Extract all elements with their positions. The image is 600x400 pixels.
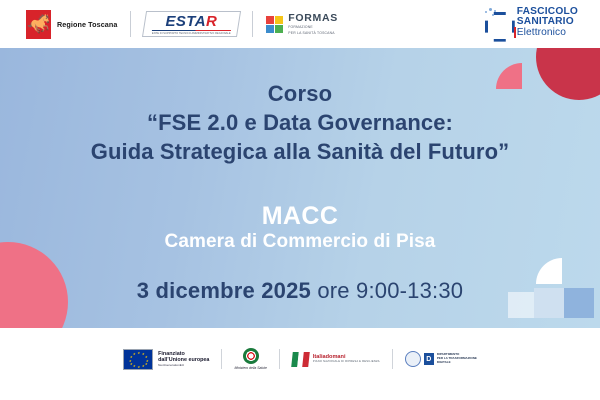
italiadomani-sub: PIANO NAZIONALE DI RIPRESA E RESILIENZA xyxy=(313,361,380,364)
venue-full-name: Camera di Commercio di Pisa xyxy=(0,231,600,254)
logo-divider-1 xyxy=(130,11,131,37)
event-time: ore 9:00-13:30 xyxy=(317,278,463,303)
eu-funding-logo: ★ ★ ★ ★ ★ ★ ★ ★ ★ ★ ★ ★ Finanziato dall'… xyxy=(123,349,209,370)
ministero-label: Ministero della Salute xyxy=(234,366,266,370)
formas-title: FORMAS xyxy=(288,13,338,24)
footer-bar: ★ ★ ★ ★ ★ ★ ★ ★ ★ ★ ★ ★ Finanziato dall'… xyxy=(0,328,600,400)
dipartimento-trasformazione-digitale-logo: D DIPARTIMENTO PER LA TRASFORMAZIONE DIG… xyxy=(405,351,477,367)
event-datetime: 3 dicembre 2025 ore 9:00-13:30 xyxy=(0,278,600,304)
regione-toscana-label: Regione Toscana xyxy=(57,20,117,29)
formas-squares-icon xyxy=(266,16,283,33)
republic-emblem-icon xyxy=(243,348,259,364)
estar-rule xyxy=(152,30,231,31)
logo-divider-2 xyxy=(252,11,253,37)
eu-line3: NextGenerationEU xyxy=(158,364,209,367)
formas-sub1: FORMAZIONE xyxy=(288,25,338,29)
pegasus-icon: 🐎 xyxy=(26,10,51,39)
venue-short-name: MACC xyxy=(0,202,600,231)
dipartimento-emblem-icon xyxy=(405,351,421,367)
regione-toscana-logo: 🐎 Regione Toscana xyxy=(26,10,117,39)
course-title-line2: Guida Strategica alla Sanità del Futuro” xyxy=(0,138,600,166)
header-logo-group: 🐎 Regione Toscana ESTAR ENTE DI SUPPORTO… xyxy=(0,10,338,39)
header-logo-bar: 🐎 Regione Toscana ESTAR ENTE DI SUPPORTO… xyxy=(0,0,600,48)
estar-word-blue: ESTA xyxy=(166,13,207,30)
italian-flag-icon xyxy=(291,352,310,367)
fse-red-accent xyxy=(514,27,516,38)
main-banner: Corso “FSE 2.0 e Data Governance: Guida … xyxy=(0,48,600,328)
horse-glyph: 🐎 xyxy=(27,15,51,34)
footer-logo-row: ★ ★ ★ ★ ★ ★ ★ ★ ★ ★ ★ ★ Finanziato dall'… xyxy=(0,328,600,380)
footer-divider-1 xyxy=(221,349,222,369)
italiadomani-logo: Italiadomani PIANO NAZIONALE DI RIPRESA … xyxy=(292,352,380,367)
footer-divider-2 xyxy=(279,349,280,369)
fse-logo: FASCICOLO SANITARIO Elettronico xyxy=(483,7,578,38)
estar-subtitle: ENTE DI SUPPORTO TECNICO AMMINISTRATIVO … xyxy=(152,32,231,35)
footer-divider-3 xyxy=(392,349,393,369)
fse-cross-icon xyxy=(483,8,513,38)
course-title-line1: “FSE 2.0 e Data Governance: xyxy=(0,109,600,137)
event-date: 3 dicembre 2025 xyxy=(137,278,311,303)
banner-content: Corso “FSE 2.0 e Data Governance: Guida … xyxy=(0,48,600,304)
estar-logo: ESTAR ENTE DI SUPPORTO TECNICO AMMINISTR… xyxy=(142,11,241,37)
dipartimento-line3: DIGITALE xyxy=(437,361,477,365)
eu-flag-icon: ★ ★ ★ ★ ★ ★ ★ ★ ★ ★ ★ ★ xyxy=(123,349,153,370)
formas-logo: FORMAS FORMAZIONE PER LA SANITÀ TOSCANA xyxy=(266,13,338,35)
fse-line3: Elettronico xyxy=(517,28,578,38)
course-eyebrow: Corso xyxy=(0,81,600,107)
estar-word-red: R xyxy=(206,13,217,30)
ministero-salute-logo: Ministero della Salute xyxy=(234,348,266,370)
dipartimento-d-badge: D xyxy=(424,353,434,365)
poster-canvas: 🐎 Regione Toscana ESTAR ENTE DI SUPPORTO… xyxy=(0,0,600,400)
formas-sub2: PER LA SANITÀ TOSCANA xyxy=(288,31,338,35)
